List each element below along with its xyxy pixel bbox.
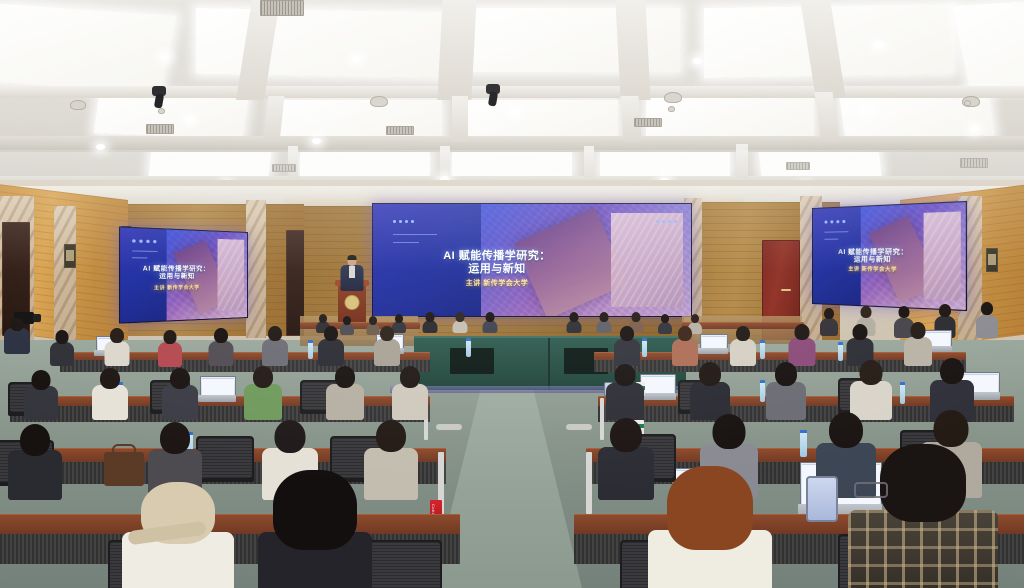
- main-screen-title-line2: 运用与新知: [372, 263, 640, 276]
- wall-sconce: [986, 248, 998, 272]
- stage-left-pilaster: [246, 200, 266, 338]
- water-bottle: [760, 380, 765, 402]
- desk-leg: [586, 452, 592, 514]
- audience-member: [452, 312, 467, 332]
- stage-spotlight: [152, 86, 166, 96]
- air-vent: [146, 124, 174, 134]
- audience-member: [244, 366, 282, 418]
- audience-member: [788, 324, 815, 364]
- audience-member: [50, 330, 74, 364]
- audience-member: [598, 418, 654, 496]
- audience-member: [730, 326, 756, 364]
- right-screen-title: AI 赋能传播学研究： 运用与新知 主讲 新传学会大学: [812, 248, 945, 275]
- ceiling-speaker-icon: [664, 92, 682, 103]
- audience-member: [364, 420, 418, 496]
- audience-member: [672, 326, 698, 364]
- audience-member: [162, 368, 198, 418]
- main-led-screen: AI 赋能传播学研究： 运用与新知 主讲 新传学会大学: [372, 203, 692, 317]
- ceiling-downlight: [312, 138, 321, 144]
- screen-rule: [393, 242, 419, 243]
- laptop[interactable]: [200, 376, 234, 402]
- ceiling-downlight: [862, 108, 871, 114]
- ceiling-downlight: [185, 116, 194, 122]
- ceiling-downlight: [874, 42, 883, 48]
- audience-member: [392, 366, 428, 418]
- audience-member: [566, 312, 581, 332]
- air-vent: [960, 158, 988, 168]
- ceiling-downlight: [510, 110, 519, 116]
- ceiling-downlight: [160, 54, 169, 60]
- wall-sconce: [64, 244, 76, 268]
- water-bottle: [900, 382, 905, 404]
- ceiling-downlight: [693, 58, 702, 64]
- audience-member: [8, 424, 62, 496]
- main-screen-subtitle: 主讲 新传学会大学: [372, 280, 640, 288]
- audience-member: [374, 326, 400, 364]
- laptop[interactable]: [640, 374, 674, 400]
- audience-member: [326, 366, 364, 418]
- audience-member: [318, 326, 344, 364]
- left-screen-title-line2: 运用与新知: [119, 274, 233, 282]
- audience-member: [648, 466, 772, 588]
- chair-armrest: [566, 424, 592, 430]
- screen-rule: [393, 234, 437, 235]
- air-vent: [272, 164, 296, 172]
- air-vent: [634, 118, 662, 127]
- main-screen-title-line1: AI 赋能传播学研究：: [372, 250, 640, 263]
- chair-armrest: [436, 424, 462, 430]
- audience-member: [658, 314, 672, 333]
- air-vent: [386, 126, 414, 135]
- presenter: [340, 256, 364, 290]
- audience-member: [690, 362, 730, 418]
- ceiling-speaker-icon: [370, 96, 388, 107]
- audience-member-cap: [122, 474, 234, 588]
- main-screen-title: AI 赋能传播学研究： 运用与新知 主讲 新传学会大学: [372, 250, 640, 288]
- audience-member-plaid: [848, 444, 998, 588]
- audience-member: [262, 326, 288, 364]
- audience-member: [614, 326, 640, 364]
- ceiling-downlight: [970, 126, 979, 132]
- audience-member: [850, 360, 892, 418]
- lecture-hall-photo: AI 赋能传播学研究： 运用与新知 主讲 新传学会大学 AI 赋能传播学研究： …: [0, 0, 1024, 588]
- screen-dot-row: [132, 239, 156, 243]
- ceiling-downlight: [96, 144, 105, 150]
- water-bottle: [800, 430, 807, 457]
- sprinkler-icon: [668, 106, 675, 112]
- audience-member: [606, 364, 644, 418]
- audience-member: [820, 308, 838, 334]
- audience-member: [596, 312, 611, 332]
- water-bottle: [466, 338, 471, 357]
- audience-member: [24, 370, 58, 418]
- university-emblem-icon: [345, 295, 360, 310]
- water-bottle: [308, 340, 313, 359]
- audience-member: [104, 328, 129, 364]
- laptop[interactable]: [700, 334, 726, 354]
- audience-member: [846, 324, 873, 364]
- audience-member: [976, 302, 998, 336]
- sprinkler-icon: [158, 108, 165, 114]
- air-vent: [786, 162, 810, 170]
- screen-dot-row: [825, 220, 846, 224]
- audience-member: [422, 312, 437, 332]
- ceiling-speaker-icon: [70, 100, 86, 110]
- photographer: [4, 318, 30, 352]
- screen-dot-row: [656, 220, 677, 306]
- screen-dot-row: [393, 220, 414, 223]
- screen-rule: [132, 257, 147, 258]
- audience-member: [92, 368, 128, 418]
- ceiling-downlight: [352, 56, 361, 62]
- right-screen-title-line2: 运用与新知: [812, 256, 945, 264]
- left-stone-pilaster: [54, 206, 76, 348]
- smartphone-in-hand[interactable]: [806, 476, 838, 522]
- audience-member: [258, 470, 372, 588]
- right-led-screen: AI 赋能传播学研究： 运用与新知 主讲 新传学会大学: [812, 201, 967, 311]
- left-screen-title: AI 赋能传播学研究： 运用与新知 主讲 新传学会大学: [119, 266, 233, 291]
- audience-member: [766, 362, 806, 418]
- sprinkler-icon: [964, 100, 971, 106]
- audience-member: [158, 330, 182, 365]
- eyeglasses-icon: [854, 482, 888, 498]
- water-bottle: [642, 338, 647, 357]
- stage-spotlight: [486, 84, 500, 94]
- water-bottle: [760, 340, 765, 359]
- left-screen-title-line1: AI 赋能传播学研究：: [119, 266, 233, 274]
- audience-member: [208, 328, 233, 364]
- water-bottle: [838, 342, 843, 361]
- screen-rule: [825, 239, 839, 240]
- air-vent: [260, 0, 304, 16]
- left-led-screen: AI 赋能传播学研究： 运用与新知 主讲 新传学会大学: [119, 226, 248, 323]
- audience-member: [904, 322, 932, 364]
- audience-member: [482, 312, 497, 332]
